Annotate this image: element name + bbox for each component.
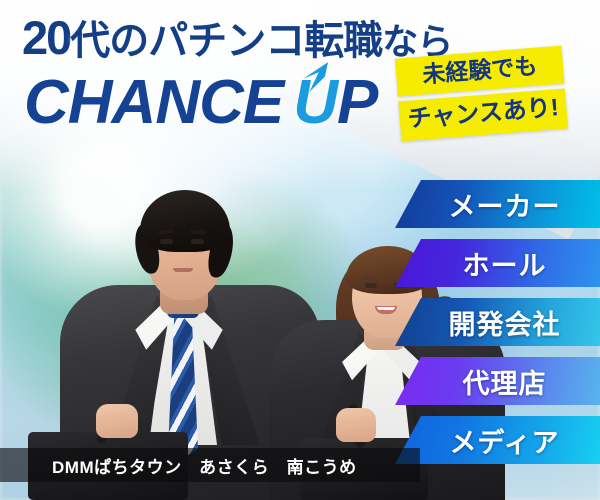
category-button-media[interactable]: メディア	[395, 416, 600, 464]
category-button-hall[interactable]: ホール	[395, 239, 600, 287]
advertisement-banner[interactable]: 20代のパチンコ転職なら CHANCEUP 未経験でも チャンスあり! メーカー…	[0, 0, 600, 500]
man-eye-right	[191, 239, 204, 244]
category-button-list: メーカー ホール 開発会社 代理店 メディア	[390, 180, 600, 475]
category-button-maker[interactable]: メーカー	[395, 180, 600, 228]
headline-number: 20	[22, 11, 70, 64]
category-label-media: メディア	[435, 421, 559, 460]
category-label-agency: 代理店	[449, 362, 547, 401]
category-label-maker: メーカー	[435, 185, 561, 224]
headline-middle: 代のパチンコ転職	[70, 19, 382, 63]
caption-text: DMMぱちタウン あさくら 南こうめ	[0, 453, 357, 478]
promo-badge-group: 未経験でも チャンスあり!	[395, 46, 568, 142]
woman-eye-left	[365, 283, 377, 288]
category-button-agency[interactable]: 代理店	[395, 357, 600, 405]
category-label-development-company: 開発会社	[435, 303, 561, 342]
man-hair	[140, 190, 230, 252]
logo-u-letter: U	[293, 68, 337, 137]
hand-left	[96, 404, 138, 438]
logo-up-group: UP	[293, 72, 377, 134]
man-mouth	[173, 268, 193, 272]
brand-logo: CHANCEUP	[24, 72, 377, 134]
logo-chance-text: CHANCE	[24, 68, 283, 137]
category-label-hall: ホール	[449, 244, 547, 283]
logo-p-letter: P	[337, 68, 377, 137]
caption-bar: DMMぱちタウン あさくら 南こうめ	[0, 448, 420, 482]
hand-right	[336, 408, 376, 442]
man-eye-left	[160, 239, 173, 244]
category-button-development-company[interactable]: 開発会社	[395, 298, 600, 346]
page-title: 20代のパチンコ転職なら	[22, 14, 452, 61]
